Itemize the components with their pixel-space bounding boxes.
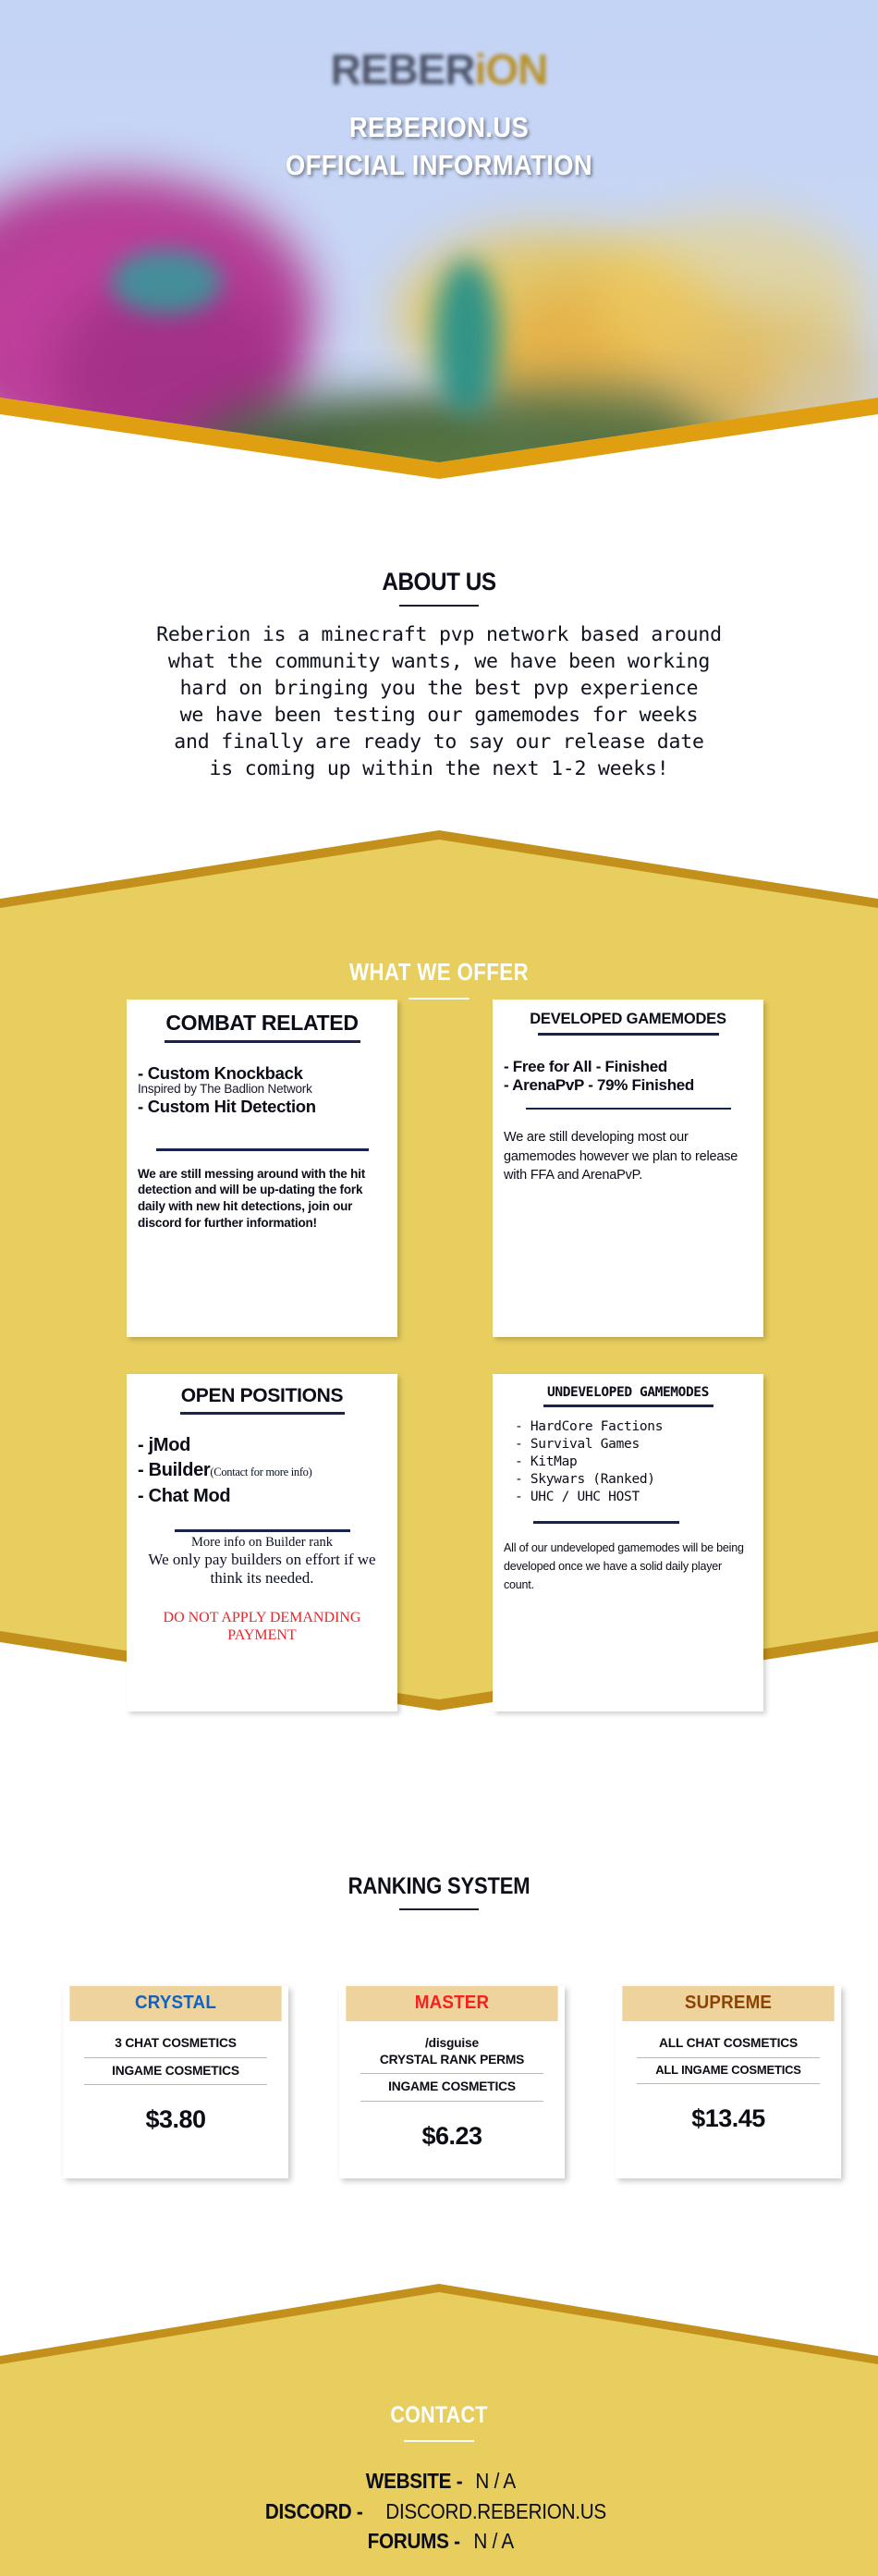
rank-crystal-separator-2 <box>84 2084 266 2085</box>
rank-master-body: /disguise CRYSTAL RANK PERMS INGAME COSM… <box>339 2021 565 2178</box>
contact-discord-label: DISCORD - <box>264 2496 362 2527</box>
rank-master-perk-1-pre: /disguise <box>348 2035 555 2052</box>
card-developed-title: DEVELOPED GAMEMODES <box>504 1011 752 1028</box>
rank-card-master[interactable]: MASTER /disguise CRYSTAL RANK PERMS INGA… <box>339 1986 565 2178</box>
rank-card-crystal[interactable]: CRYSTAL 3 CHAT COSMETICS INGAME COSMETIC… <box>63 1986 288 2178</box>
rank-master-perk-2: INGAME COSMETICS <box>348 2074 555 2101</box>
card-positions-title-rule <box>180 1412 345 1415</box>
contact-section: CONTACT WEBSITE - N / A DISCORD - DISCOR… <box>0 2284 878 2576</box>
card-positions-item-2: - Builder(Contact for more info) <box>138 1458 386 1484</box>
card-undeveloped-item-3: - KitMap <box>515 1454 752 1471</box>
card-undeveloped-title: UNDEVELOPED GAMEMODES <box>504 1385 752 1400</box>
card-positions-divider <box>175 1529 350 1532</box>
ranking-cards: CRYSTAL 3 CHAT COSMETICS INGAME COSMETIC… <box>63 1986 841 2178</box>
ranking-heading-rule <box>399 1908 479 1910</box>
rank-master-perk-1: /disguise CRYSTAL RANK PERMS <box>348 2030 555 2073</box>
rank-crystal-name: CRYSTAL <box>69 1986 281 2021</box>
card-open-positions: OPEN POSITIONS - jMod - Builder(Contact … <box>127 1374 397 1711</box>
rank-supreme-price: $13.45 <box>625 2104 832 2133</box>
card-developed-title-rule <box>538 1033 719 1036</box>
card-positions-title: OPEN POSITIONS <box>138 1385 386 1407</box>
contact-row-forums: FORUMS - N / A <box>0 2526 878 2557</box>
rank-supreme-perk-1: ALL CHAT COSMETICS <box>625 2030 832 2057</box>
card-combat-related: COMBAT RELATED - Custom Knockback Inspir… <box>127 1000 397 1337</box>
rank-crystal-price: $3.80 <box>72 2105 279 2134</box>
card-positions-item-3: - Chat Mod <box>138 1484 386 1510</box>
contact-heading-rule <box>404 2440 474 2442</box>
hero-banner: REBERiON REBERION.US OFFICIAL INFORMATIO… <box>0 0 878 462</box>
card-combat-item-2: - Custom Hit Detection <box>138 1097 386 1117</box>
card-developed-item-2: - ArenaPvP - 79% Finished <box>504 1076 752 1095</box>
rank-master-perk-1-main: CRYSTAL RANK PERMS <box>380 2053 524 2067</box>
card-developed-note: We are still developing most our gamemod… <box>504 1128 752 1185</box>
contact-website-value: N / A <box>475 2466 516 2496</box>
ranking-heading: RANKING SYSTEM <box>53 1873 825 1900</box>
rank-master-separator-2 <box>360 2101 543 2102</box>
card-undeveloped-gamemodes: UNDEVELOPED GAMEMODES - HardCore Faction… <box>493 1374 763 1711</box>
contact-forums-value: N / A <box>473 2526 514 2557</box>
offer-heading-text: WHAT WE OFFER <box>349 958 529 986</box>
card-positions-item-2-label: - Builder <box>138 1460 210 1480</box>
rank-supreme-perk-2: ALL INGAME COSMETICS <box>625 2058 832 2084</box>
contact-row-discord[interactable]: DISCORD - DISCORD.REBERION.US <box>0 2496 878 2527</box>
about-heading: ABOUT US <box>44 568 835 596</box>
hero-title-block: REBERION.US OFFICIAL INFORMATION <box>53 109 825 185</box>
contact-heading: CONTACT <box>62 2402 817 2429</box>
card-positions-note: We only pay builders on effort if we thi… <box>138 1551 386 1589</box>
rank-crystal-body: 3 CHAT COSMETICS INGAME COSMETICS $3.80 <box>63 2021 288 2162</box>
about-paragraph: Reberion is a minecraft pvp network base… <box>0 622 878 782</box>
card-undeveloped-title-rule <box>543 1405 713 1407</box>
rank-card-supreme[interactable]: SUPREME ALL CHAT COSMETICS ALL INGAME CO… <box>616 1986 841 2178</box>
offer-cards-grid: COMBAT RELATED - Custom Knockback Inspir… <box>127 1000 764 1748</box>
logo-text-accent: iON <box>475 45 548 93</box>
rank-master-name: MASTER <box>346 1986 557 2021</box>
card-combat-item-1: - Custom Knockback <box>138 1063 386 1084</box>
infographic-page: REBERiON REBERION.US OFFICIAL INFORMATIO… <box>0 0 878 2576</box>
card-combat-note: We are still messing around with the hit… <box>138 1166 386 1233</box>
card-positions-item-1: - jMod <box>138 1433 386 1459</box>
rank-crystal-perk-1: 3 CHAT COSMETICS <box>72 2030 279 2057</box>
offer-card-row-1: COMBAT RELATED - Custom Knockback Inspir… <box>127 1000 764 1337</box>
card-undeveloped-note: All of our undeveloped gamemodes will be… <box>504 1539 752 1594</box>
rank-master-price: $6.23 <box>348 2122 555 2151</box>
hero-title-line-2: OFFICIAL INFORMATION <box>53 147 825 185</box>
about-section: ABOUT US Reberion is a minecraft pvp net… <box>0 568 878 782</box>
card-undeveloped-item-1: - HardCore Factions <box>515 1418 752 1436</box>
card-undeveloped-divider <box>533 1521 679 1524</box>
contact-website-label: WEBSITE - <box>366 2466 463 2496</box>
rank-crystal-perk-2: INGAME COSMETICS <box>72 2058 279 2085</box>
card-undeveloped-item-5: - UHC / UHC HOST <box>515 1489 752 1506</box>
card-positions-builder-note: (Contact for more info) <box>210 1466 311 1478</box>
offer-card-row-2: OPEN POSITIONS - jMod - Builder(Contact … <box>127 1374 764 1711</box>
card-developed-gamemodes: DEVELOPED GAMEMODES - Free for All - Fin… <box>493 1000 763 1337</box>
contact-discord-value[interactable]: DISCORD.REBERION.US <box>385 2496 606 2527</box>
rank-supreme-separator-2 <box>637 2083 819 2084</box>
card-developed-divider <box>526 1108 731 1110</box>
offer-heading: WHAT WE OFFER <box>62 958 817 1000</box>
card-combat-subnote: Inspired by The Badlion Network <box>138 1083 386 1097</box>
server-logo: REBERiON <box>0 44 878 94</box>
hero-title-line-1: REBERION.US <box>53 109 825 147</box>
card-positions-note-heading: More info on Builder rank <box>138 1535 386 1551</box>
logo-text-main: REBER <box>331 45 475 93</box>
what-we-offer-section: WHAT WE OFFER COMBAT RELATED - Custom Kn… <box>0 830 878 1711</box>
card-developed-item-1: - Free for All - Finished <box>504 1058 752 1076</box>
contact-content: CONTACT WEBSITE - N / A DISCORD - DISCOR… <box>0 2402 878 2557</box>
card-combat-title: COMBAT RELATED <box>138 1011 386 1036</box>
card-undeveloped-item-4: - Skywars (Ranked) <box>515 1471 752 1489</box>
ranking-section-header: RANKING SYSTEM <box>0 1873 878 1910</box>
card-combat-title-rule <box>165 1040 360 1043</box>
card-positions-warning: DO NOT APPLY DEMANDING PAYMENT <box>138 1609 386 1645</box>
rank-supreme-name: SUPREME <box>622 1986 834 2021</box>
card-combat-divider <box>156 1148 369 1151</box>
rank-supreme-body: ALL CHAT COSMETICS ALL INGAME COSMETICS … <box>616 2021 841 2161</box>
card-undeveloped-item-2: - Survival Games <box>515 1436 752 1454</box>
contact-row-website: WEBSITE - N / A <box>0 2466 878 2496</box>
contact-forums-label: FORUMS - <box>368 2526 460 2557</box>
contact-rows: WEBSITE - N / A DISCORD - DISCORD.REBERI… <box>0 2466 878 2557</box>
about-heading-rule <box>399 605 479 607</box>
